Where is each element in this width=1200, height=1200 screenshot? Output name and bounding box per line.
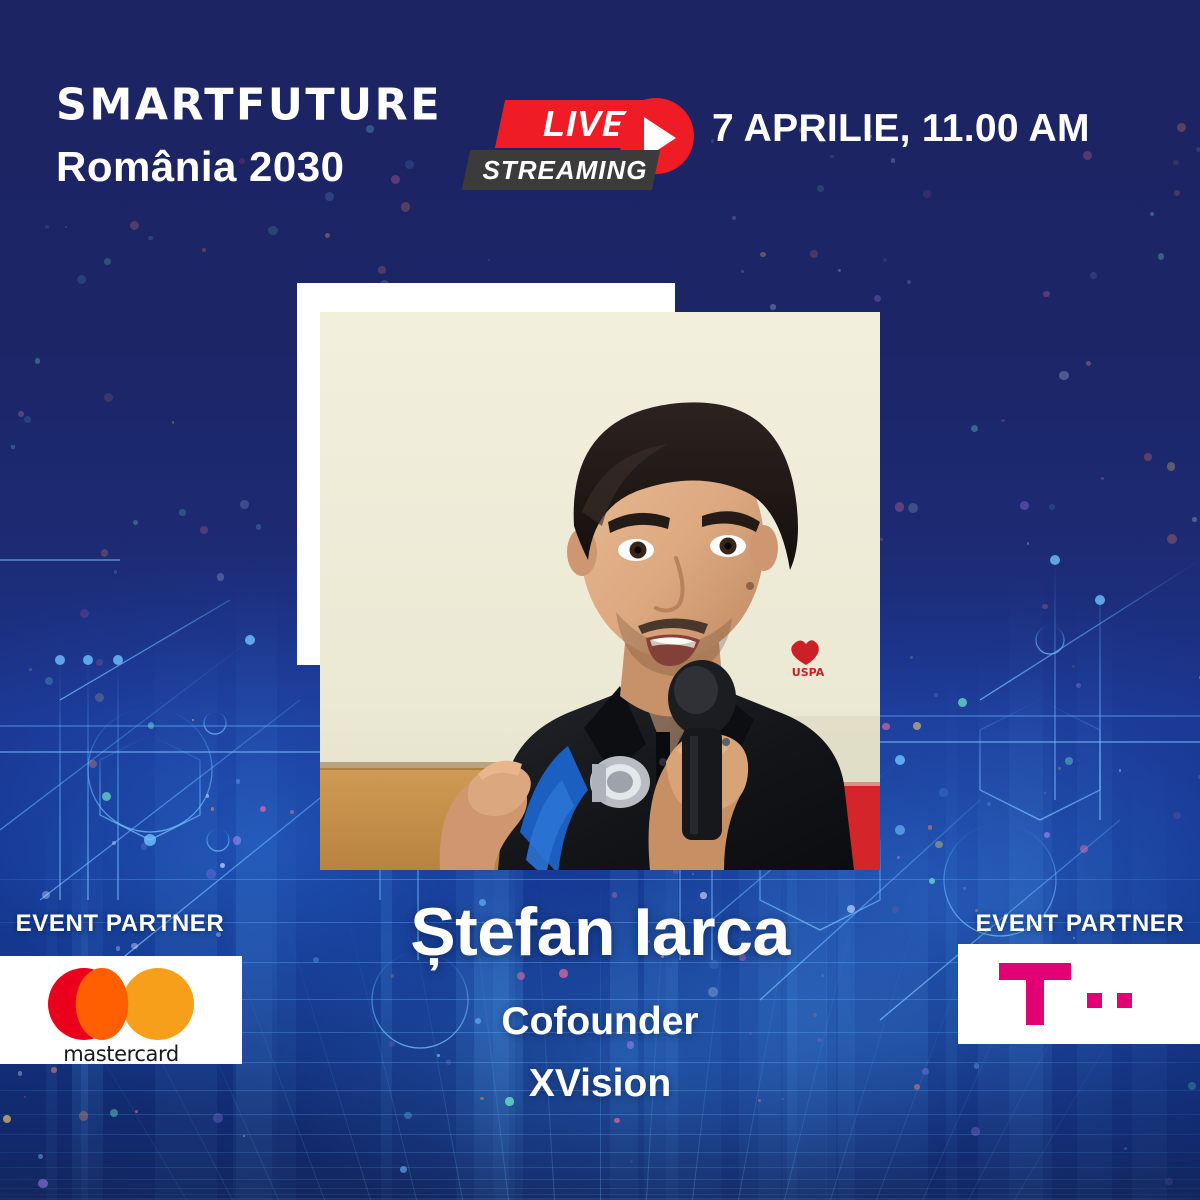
brand-name: SMARTFUTURE xyxy=(56,84,442,128)
mastercard-logo: mastercard xyxy=(48,968,194,1052)
telekom-logo xyxy=(999,963,1159,1025)
brand-lockup: SMARTFUTURE România 2030 xyxy=(56,84,442,191)
partner-card-telekom xyxy=(958,944,1200,1044)
event-partner-label-left: EVENT PARTNER xyxy=(0,910,240,938)
partner-card-mastercard: mastercard xyxy=(0,956,242,1064)
speaker-photo: USPA xyxy=(320,312,880,870)
event-datetime: 7 APRILIE, 11.00 AM xyxy=(712,107,1090,151)
telekom-t-stem xyxy=(1026,963,1044,1025)
brand-subtitle: România 2030 xyxy=(56,143,442,191)
event-poster: SMARTFUTURE România 2030 LIVE STREAMING … xyxy=(0,0,1200,1200)
mastercard-yellow-circle xyxy=(122,968,194,1040)
event-partner-label-right: EVENT PARTNER xyxy=(960,910,1200,938)
telekom-dot-1 xyxy=(1087,993,1102,1008)
mastercard-overlap xyxy=(76,968,129,1040)
speaker-organization: XVision xyxy=(0,1062,1200,1106)
streaming-label: STREAMING xyxy=(472,151,658,189)
telekom-dot-2 xyxy=(1117,993,1132,1008)
live-streaming-badge: LIVE STREAMING xyxy=(466,100,696,192)
svg-text:USPA: USPA xyxy=(792,666,825,679)
mastercard-wordmark: mastercard xyxy=(48,1042,194,1066)
